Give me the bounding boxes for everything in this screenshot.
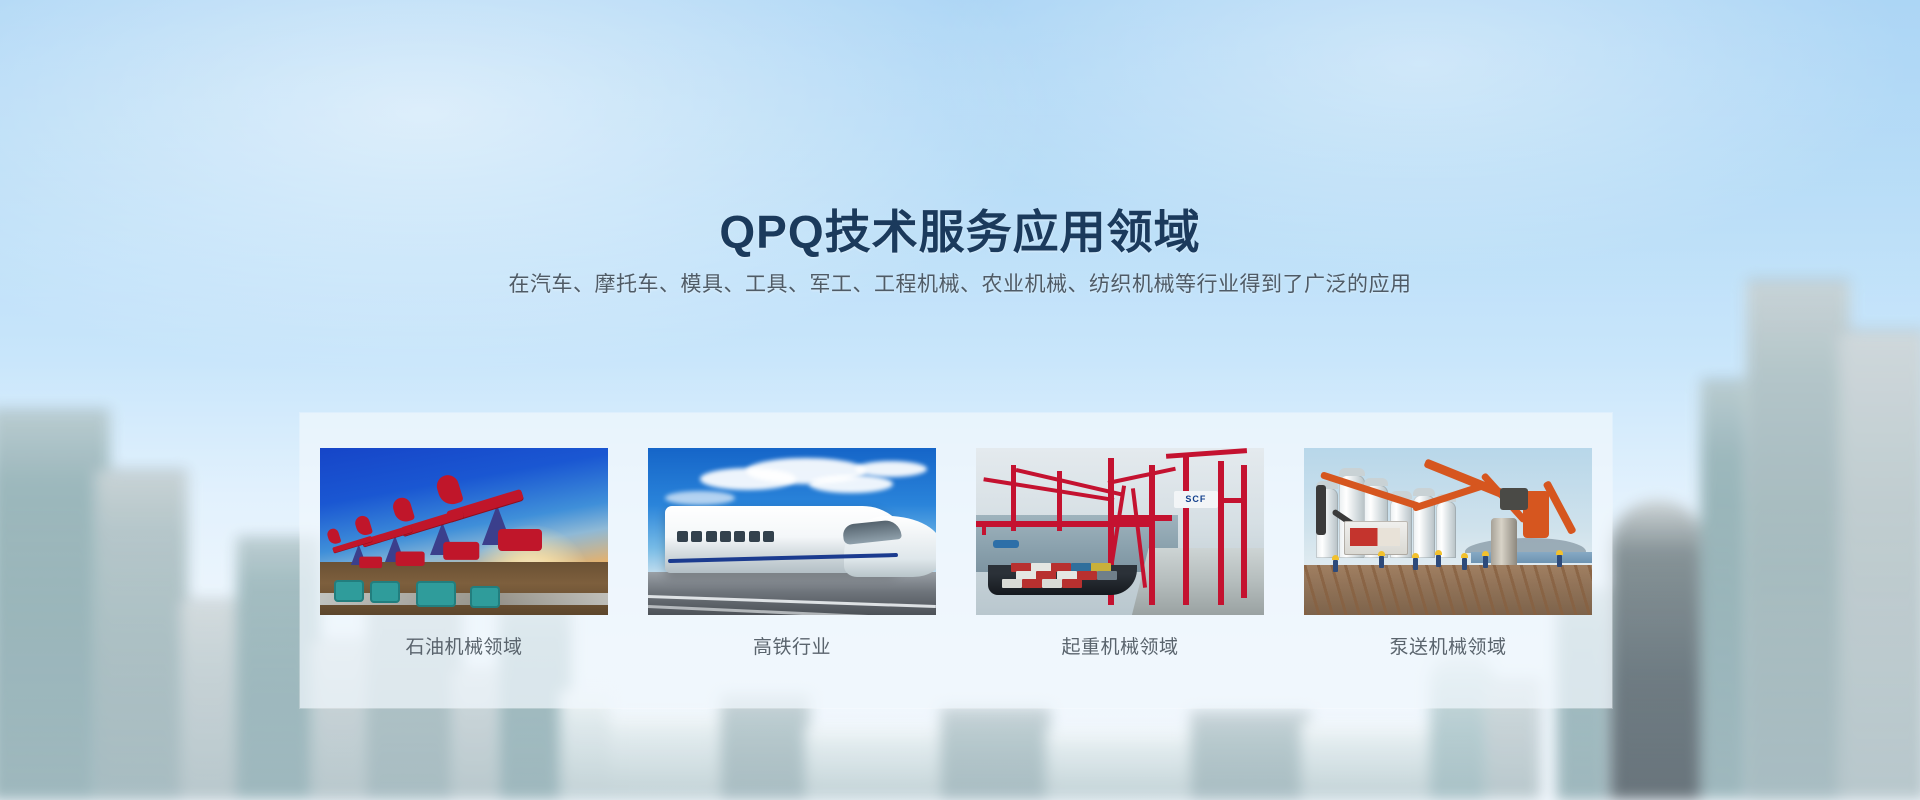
card-oil-machinery[interactable]: 石油机械领域	[320, 448, 608, 659]
concrete-pump-icon	[1304, 448, 1592, 615]
page-content: QPQ技术服务应用领域 在汽车、摩托车、模具、工具、军工、工程机械、农业机械、纺…	[0, 0, 1920, 800]
oil-pumpjack-icon	[320, 448, 608, 615]
card-lifting-machinery[interactable]: SCF	[976, 448, 1264, 659]
container-brand-label: SCF	[1174, 491, 1218, 508]
card-list: 石油机械领域	[300, 413, 1612, 708]
card-high-speed-rail[interactable]: 高铁行业	[648, 448, 936, 659]
page-subtitle: 在汽车、摩托车、模具、工具、军工、工程机械、农业机械、纺织机械等行业得到了广泛的…	[0, 268, 1920, 298]
card-caption: 石油机械领域	[320, 632, 608, 659]
card-caption: 起重机械领域	[976, 632, 1264, 659]
high-speed-train-icon	[648, 448, 936, 615]
card-thumbnail[interactable]	[320, 448, 608, 615]
page-title: QPQ技术服务应用领域	[0, 196, 1920, 262]
application-fields-panel: 石油机械领域	[300, 413, 1612, 708]
card-caption: 泵送机械领域	[1304, 632, 1592, 659]
port-crane-icon: SCF	[976, 448, 1264, 615]
card-thumbnail[interactable]	[1304, 448, 1592, 615]
card-thumbnail[interactable]	[648, 448, 936, 615]
card-thumbnail[interactable]: SCF	[976, 448, 1264, 615]
card-caption: 高铁行业	[648, 632, 936, 659]
card-pumping-machinery[interactable]: 泵送机械领域	[1304, 448, 1592, 659]
